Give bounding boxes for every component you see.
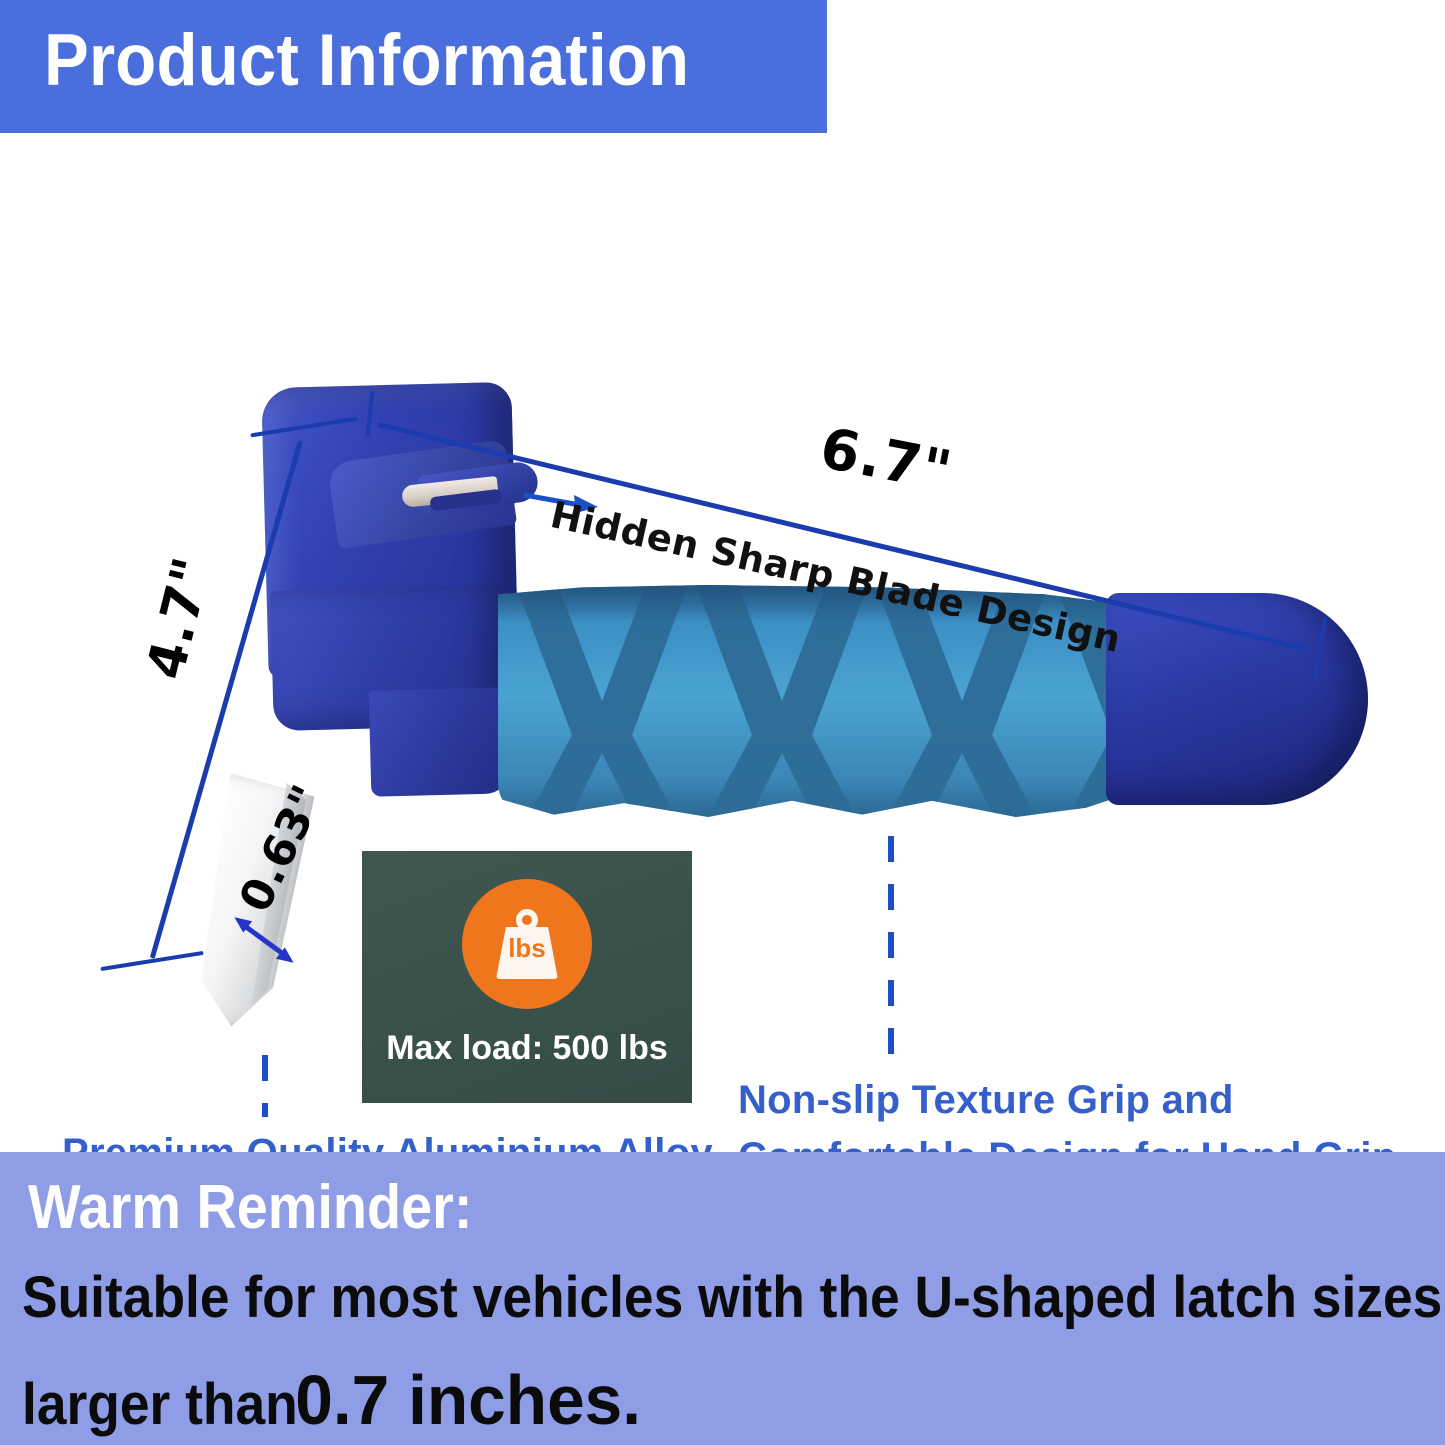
leader-line-alloy <box>262 1055 268 1117</box>
page-title: Product Information <box>44 24 689 97</box>
weight-icon-label: lbs <box>490 935 564 961</box>
dimension-label-length: 6.7" <box>815 416 957 505</box>
product-infographic: Product Information <box>0 0 1445 1445</box>
weight-lbs-icon: lbs <box>490 907 564 981</box>
handle <box>498 585 1368 825</box>
dimension-label-height: 4.7" <box>136 551 224 685</box>
max-load-badge: lbs <box>462 879 592 1009</box>
max-load-card: lbs Max load: 500 lbs <box>362 851 692 1103</box>
leader-line-grip <box>888 836 894 1068</box>
reminder-line2-emphasis: 0.7 inches. <box>295 1360 641 1440</box>
handle-end-cap <box>1106 593 1368 805</box>
header-banner: Product Information <box>0 0 827 133</box>
product-illustration: 6.7" 4.7" 0.63" Hidden Sharp Blade Desig… <box>0 133 1445 1152</box>
hammer-head-skirt <box>369 687 512 797</box>
warm-reminder-band: Warm Reminder: Suitable for most vehicle… <box>0 1152 1445 1445</box>
reminder-title: Warm Reminder: <box>28 1172 472 1243</box>
callout-grip-line1: Non-slip Texture Grip and <box>738 1078 1234 1123</box>
reminder-line1: Suitable for most vehicles with the U-sh… <box>22 1264 1442 1331</box>
reminder-line2: larger than 0.7 inches. <box>22 1360 638 1440</box>
max-load-label: Max load: 500 lbs <box>362 1029 692 1068</box>
reminder-line2-prefix: larger than <box>22 1371 298 1438</box>
